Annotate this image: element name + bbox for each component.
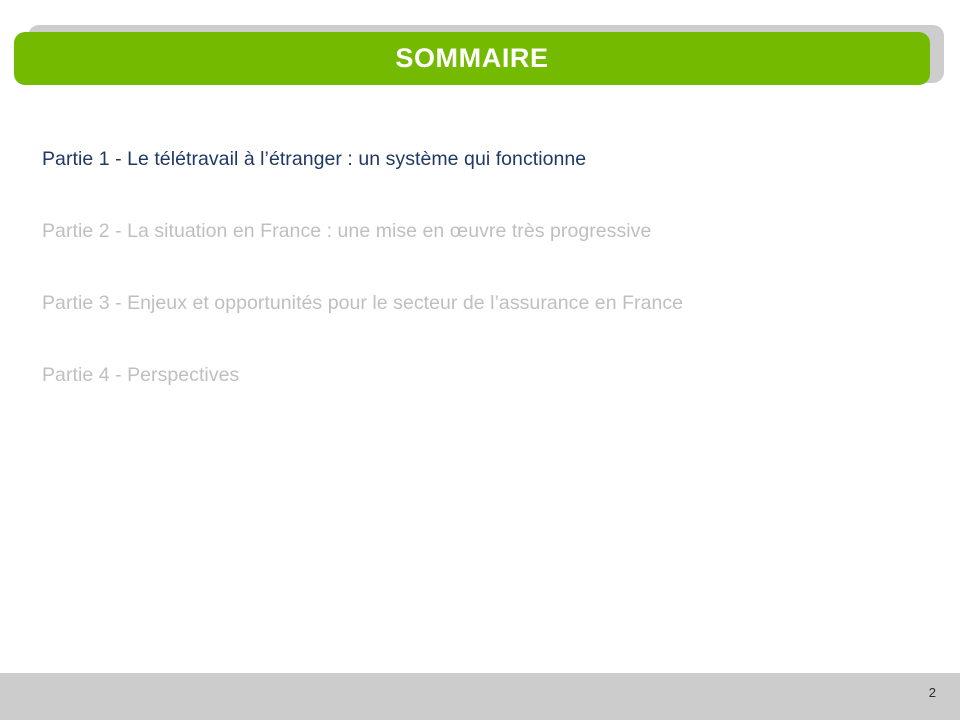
page-title: SOMMAIRE xyxy=(383,45,560,72)
presentation-slide: SOMMAIRE Partie 1 - Le télétravail à l’é… xyxy=(0,0,960,720)
agenda-item-partie-2[interactable]: Partie 2 - La situation en France : une … xyxy=(42,220,922,292)
agenda-list: Partie 1 - Le télétravail à l’étranger :… xyxy=(42,148,922,436)
slide-header: SOMMAIRE xyxy=(0,0,960,110)
agenda-item-partie-1[interactable]: Partie 1 - Le télétravail à l’étranger :… xyxy=(42,148,922,220)
agenda-item-partie-3[interactable]: Partie 3 - Enjeux et opportunités pour l… xyxy=(42,292,922,364)
agenda-item-partie-4[interactable]: Partie 4 - Perspectives xyxy=(42,364,922,436)
page-number: 2 xyxy=(929,686,936,699)
slide-footer: 2 xyxy=(0,673,960,720)
header-banner: SOMMAIRE xyxy=(14,32,930,85)
